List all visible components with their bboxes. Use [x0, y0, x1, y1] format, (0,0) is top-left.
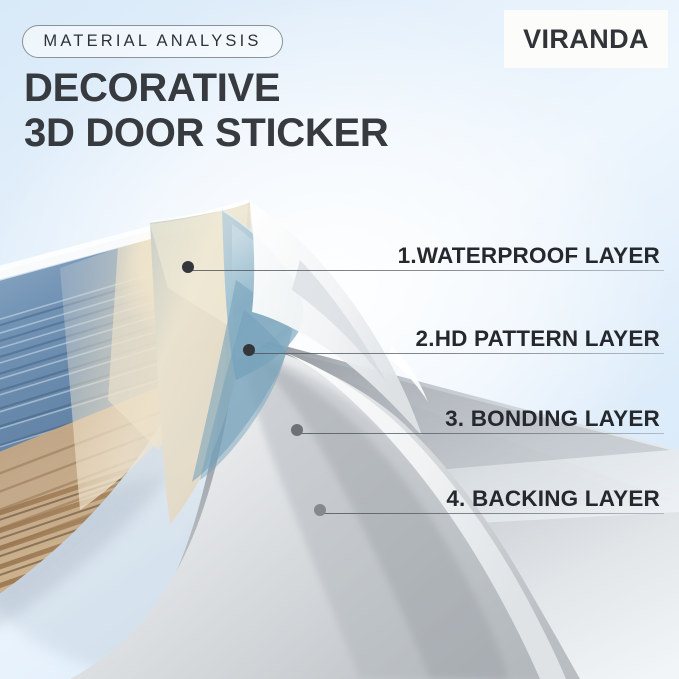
callout-1: 1.WATERPROOF LAYER	[140, 243, 660, 269]
poster-canvas: MATERIAL ANALYSIS DECORATIVE 3D DOOR STI…	[0, 0, 679, 679]
callout-leader-line	[192, 270, 664, 271]
callout-3: 3. BONDING LAYER	[140, 406, 660, 432]
material-analysis-badge: MATERIAL ANALYSIS	[22, 25, 283, 58]
brand-logo: VIRANDA	[504, 10, 668, 68]
callout-leader-dot	[314, 504, 326, 516]
title-line-1: DECORATIVE	[24, 66, 280, 110]
callout-4: 4. BACKING LAYER	[140, 486, 660, 512]
title-line-2: 3D DOOR STICKER	[24, 111, 388, 156]
callout-2: 2.HD PATTERN LAYER	[140, 326, 660, 352]
callout-leader-line	[301, 433, 664, 434]
callout-leader-line	[253, 353, 664, 354]
page-title: DECORATIVE 3D DOOR STICKER	[24, 66, 388, 156]
callout-leader-dot	[291, 424, 303, 436]
callout-leader-dot	[243, 344, 255, 356]
badge-label: MATERIAL ANALYSIS	[43, 32, 261, 51]
callout-label: 1.WATERPROOF LAYER	[140, 243, 660, 269]
callout-leader-line	[324, 513, 664, 514]
callout-label: 3. BONDING LAYER	[140, 406, 660, 432]
brand-logo-text: VIRANDA	[523, 24, 649, 55]
callout-label: 2.HD PATTERN LAYER	[140, 326, 660, 352]
callout-leader-dot	[182, 261, 194, 273]
callout-label: 4. BACKING LAYER	[140, 486, 660, 512]
